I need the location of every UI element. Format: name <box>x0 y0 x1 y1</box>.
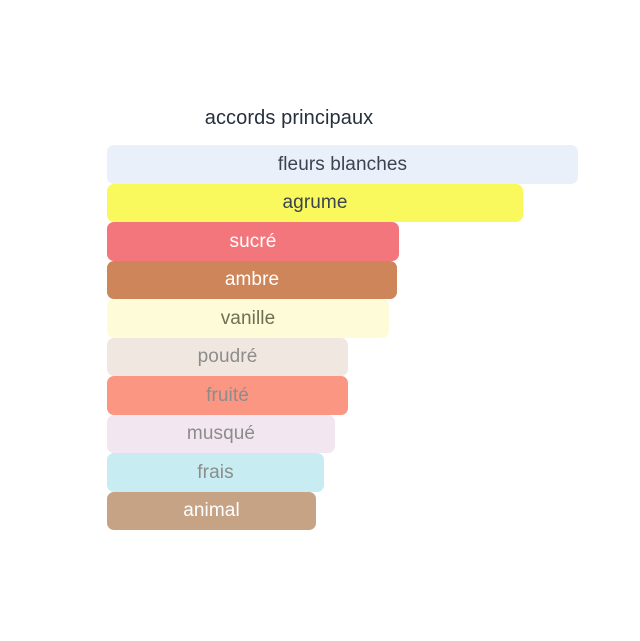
bar-row: musqué <box>107 415 587 454</box>
bar-row: animal <box>107 492 587 531</box>
bar-row: poudré <box>107 338 587 377</box>
bar-frais[interactable]: frais <box>107 453 324 492</box>
bar-row: sucré <box>107 222 587 261</box>
bar-animal[interactable]: animal <box>107 492 316 531</box>
bar-list: fleurs blanches agrume sucré ambre vanil… <box>107 145 587 531</box>
bar-musque[interactable]: musqué <box>107 415 335 454</box>
bar-row: fleurs blanches <box>107 145 587 184</box>
bar-row: agrume <box>107 184 587 223</box>
bar-label: fleurs blanches <box>272 155 413 174</box>
bar-sucre[interactable]: sucré <box>107 222 399 261</box>
bar-label: frais <box>191 463 239 482</box>
bar-label: sucré <box>224 232 283 251</box>
bar-agrume[interactable]: agrume <box>107 184 523 223</box>
bar-vanille[interactable]: vanille <box>107 299 389 338</box>
bar-ambre[interactable]: ambre <box>107 261 397 300</box>
chart-title: accords principaux <box>0 105 578 131</box>
bar-poudre[interactable]: poudré <box>107 338 348 377</box>
bar-label: agrume <box>276 193 353 212</box>
bar-label: poudré <box>192 347 264 366</box>
bar-label: ambre <box>219 270 285 289</box>
bar-row: fruité <box>107 376 587 415</box>
bar-row: vanille <box>107 299 587 338</box>
bar-label: fruité <box>200 386 255 405</box>
bar-row: frais <box>107 453 587 492</box>
bar-fleurs-blanches[interactable]: fleurs blanches <box>107 145 578 184</box>
bar-label: animal <box>177 501 246 520</box>
bar-fruite[interactable]: fruité <box>107 376 348 415</box>
bar-label: musqué <box>181 424 261 443</box>
bar-row: ambre <box>107 261 587 300</box>
bar-label: vanille <box>215 309 282 328</box>
bar-chart: accords principaux fleurs blanches agrum… <box>0 0 640 641</box>
